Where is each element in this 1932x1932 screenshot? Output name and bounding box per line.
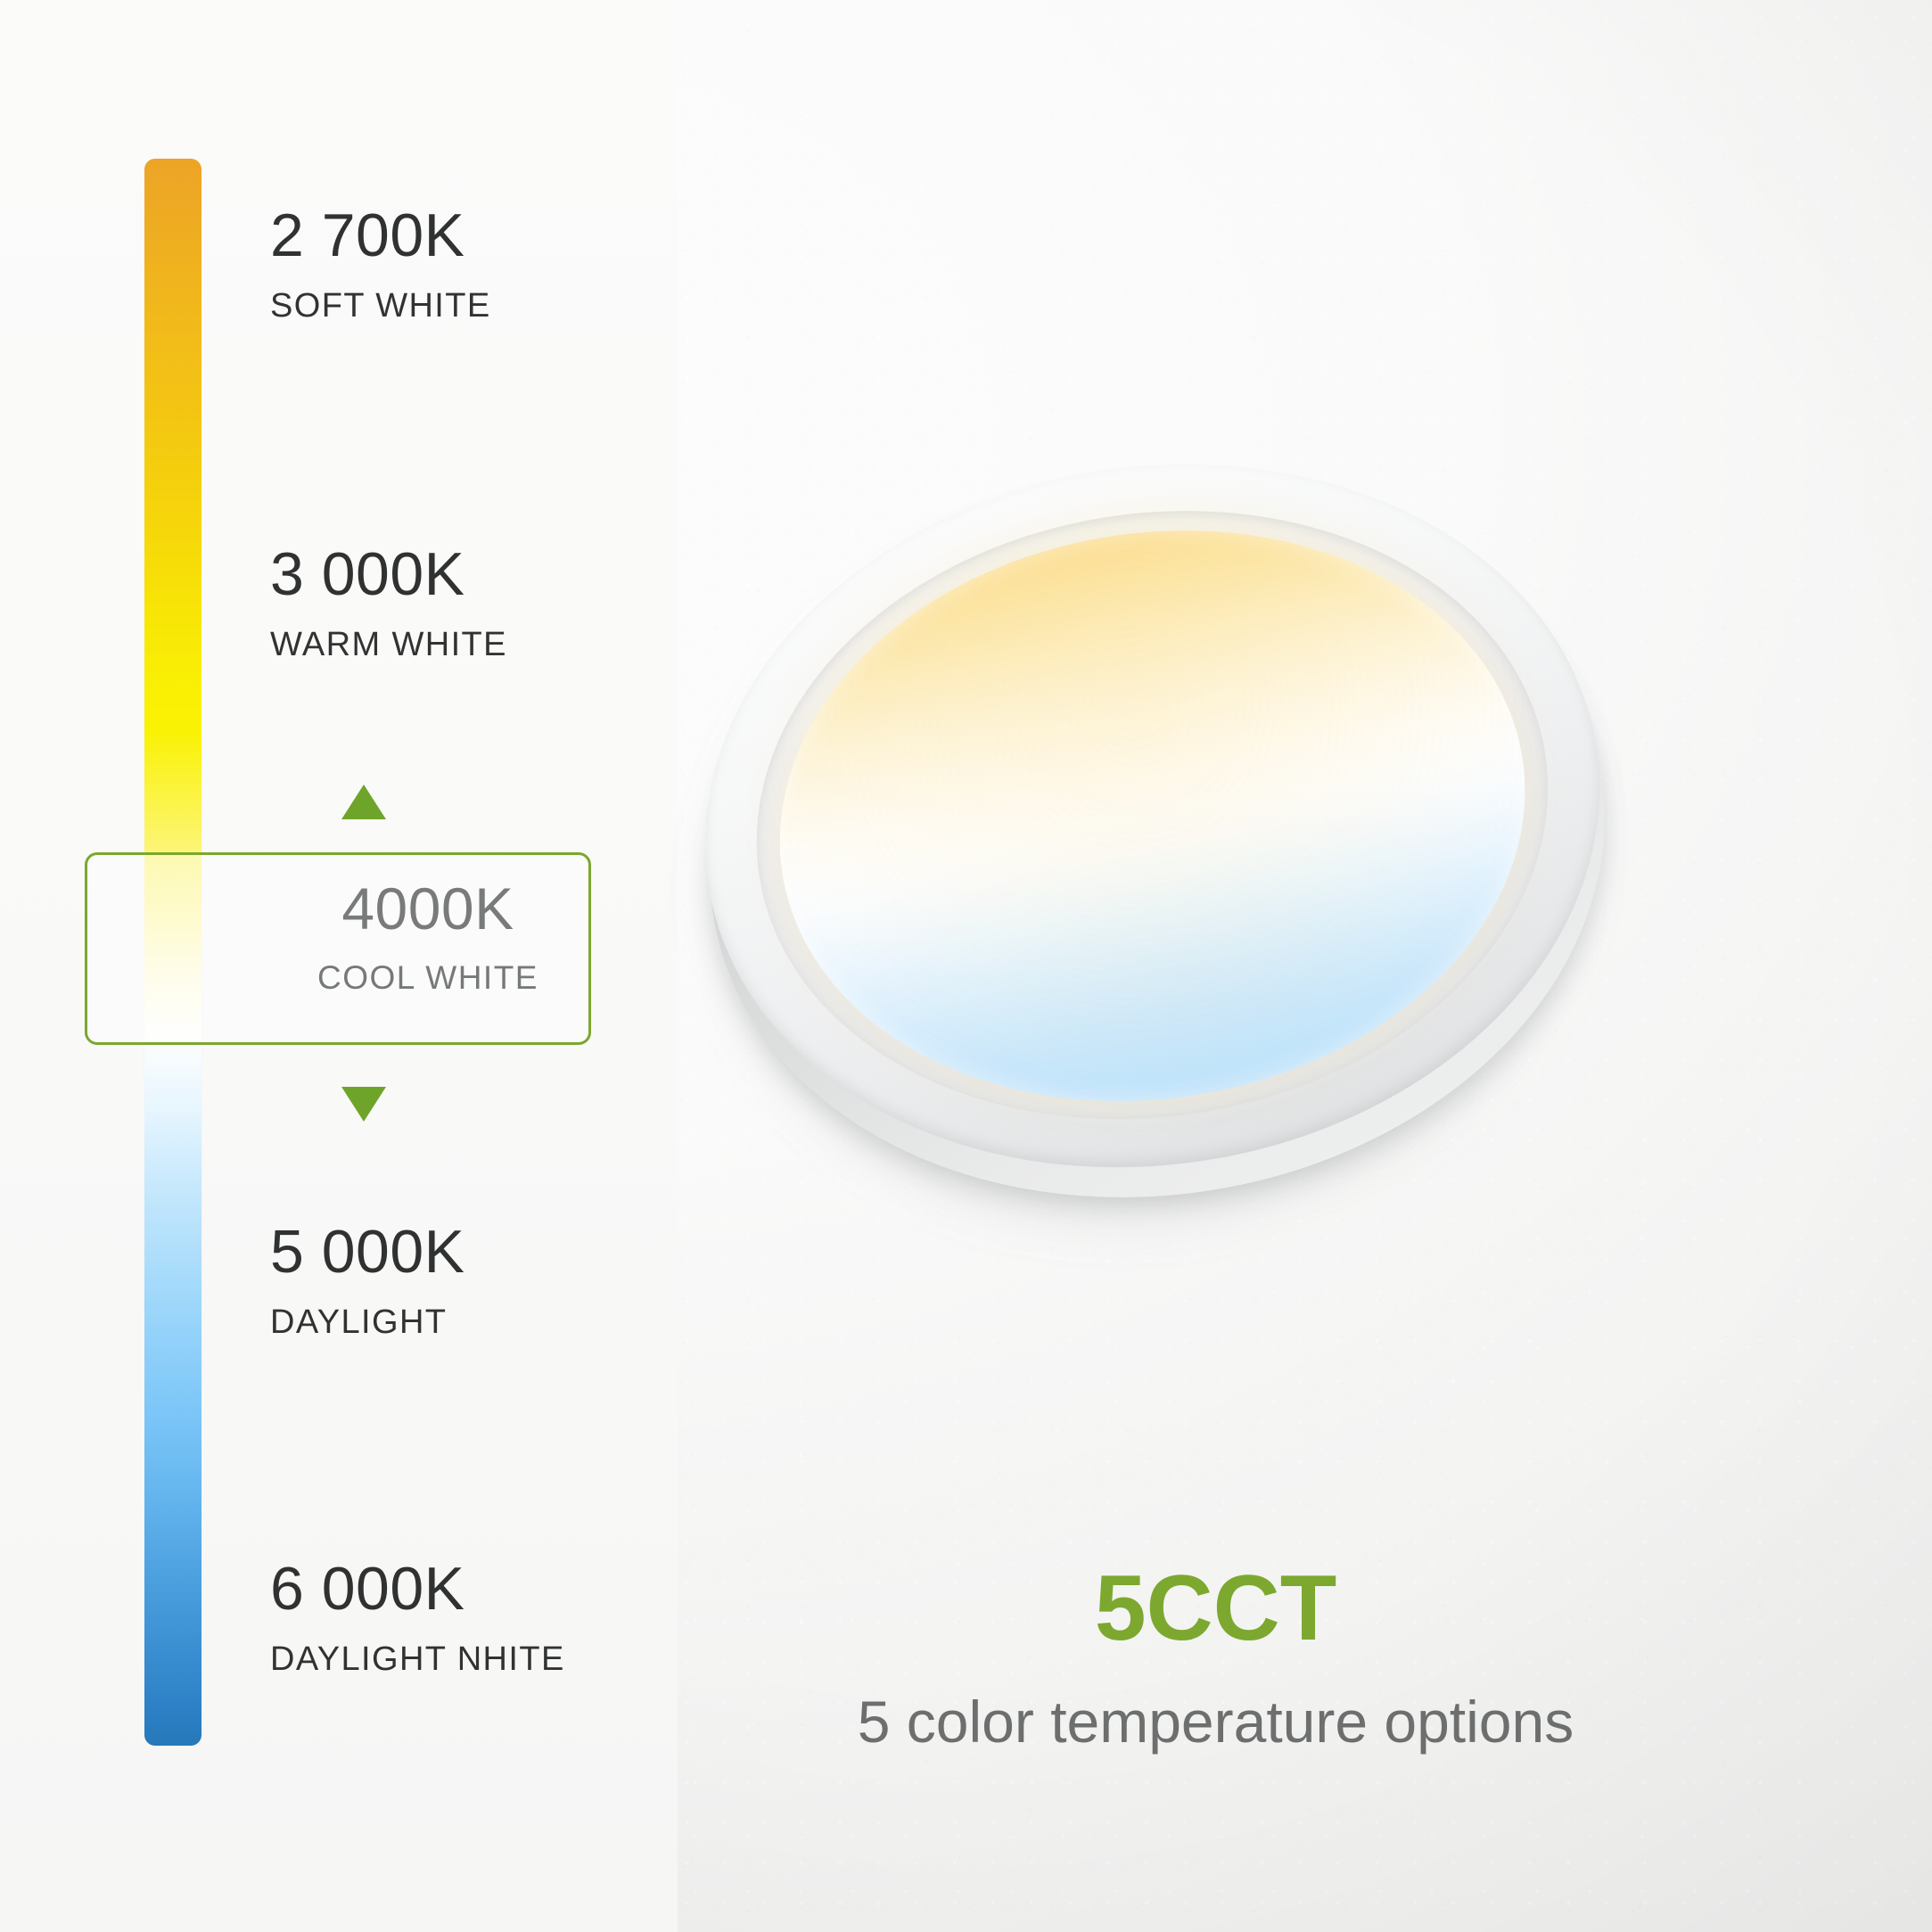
scale-stop-kelvin: 5 000K bbox=[270, 1221, 465, 1282]
selected-name: COOL WHITE bbox=[267, 961, 588, 994]
scale-stop-name: SOFT WHITE bbox=[270, 289, 491, 323]
scale-stop-name: DAYLIGHT bbox=[270, 1305, 465, 1339]
led-ceiling-light-product bbox=[704, 467, 1603, 1207]
scale-stop-3000k: 3 000K WARM WHITE bbox=[270, 544, 507, 662]
scale-stop-kelvin: 3 000K bbox=[270, 544, 507, 604]
triangle-up-icon[interactable] bbox=[341, 785, 386, 819]
scale-stop-5000k: 5 000K DAYLIGHT bbox=[270, 1221, 465, 1339]
caption-subtitle: 5 color temperature options bbox=[0, 1692, 1932, 1751]
scale-stop-name: WARM WHITE bbox=[270, 628, 507, 662]
triangle-down-icon[interactable] bbox=[341, 1087, 386, 1122]
selected-temperature-label: 4000K COOL WHITE bbox=[267, 879, 588, 994]
scale-stop-kelvin: 2 700K bbox=[270, 205, 491, 266]
lamp-body bbox=[654, 401, 1654, 1246]
caption-title: 5CCT bbox=[0, 1562, 1932, 1655]
selected-kelvin: 4000K bbox=[267, 879, 588, 938]
scale-stop-2700k: 2 700K SOFT WHITE bbox=[270, 205, 491, 323]
